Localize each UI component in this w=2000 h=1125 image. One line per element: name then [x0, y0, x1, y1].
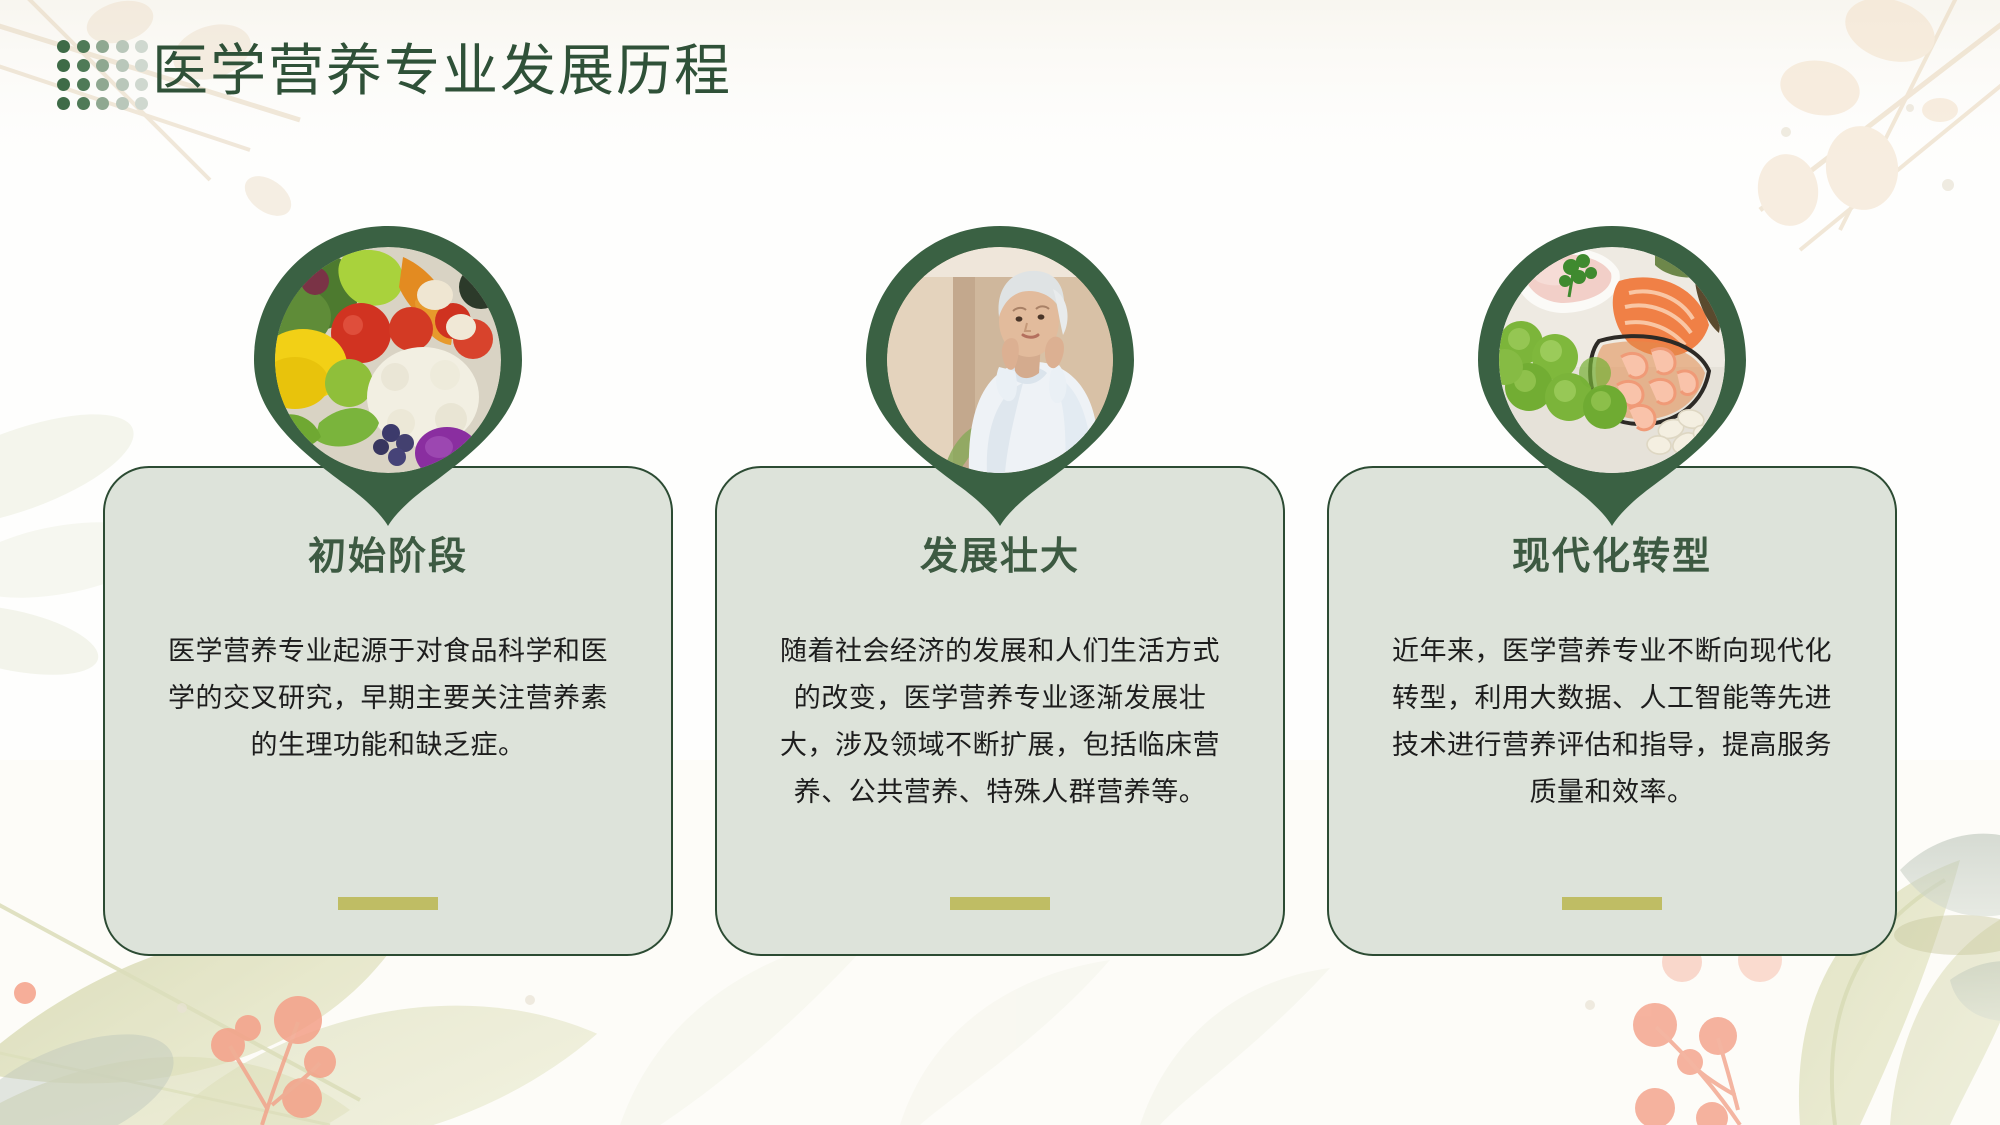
protein-food-photo-art	[1499, 247, 1725, 473]
vegetables-photo-art	[275, 247, 501, 473]
card-panel: 初始阶段 医学营养专业起源于对食品科学和医学的交叉研究，早期主要关注营养素的生理…	[103, 466, 673, 956]
map-pin-marker-1[interactable]	[254, 226, 522, 526]
accent-bar	[950, 897, 1050, 910]
timeline-card-3[interactable]: 现代化转型 近年来，医学营养专业不断向现代化转型，利用大数据、人工智能等先进技术…	[1327, 466, 1897, 956]
elderly-woman-photo	[887, 247, 1113, 473]
protein-food-photo	[1499, 247, 1725, 473]
accent-bar	[1562, 897, 1662, 910]
accent-bar	[338, 897, 438, 910]
map-pin-marker-2[interactable]	[866, 226, 1134, 526]
timeline-card-2[interactable]: 发展壮大 随着社会经济的发展和人们生活方式的改变，医学营养专业逐渐发展壮大，涉及…	[715, 466, 1285, 956]
timeline-card-1[interactable]: 初始阶段 医学营养专业起源于对食品科学和医学的交叉研究，早期主要关注营养素的生理…	[103, 466, 673, 956]
card-title: 初始阶段	[105, 534, 671, 580]
card-body-text: 随着社会经济的发展和人们生活方式的改变，医学营养专业逐渐发展壮大，涉及领域不断扩…	[769, 628, 1231, 816]
timeline-cards: 初始阶段 医学营养专业起源于对食品科学和医学的交叉研究，早期主要关注营养素的生理…	[0, 0, 2000, 1125]
elderly-woman-photo-art	[887, 247, 1113, 473]
card-title: 发展壮大	[717, 534, 1283, 580]
vegetables-photo	[275, 247, 501, 473]
map-pin-marker-3[interactable]	[1478, 226, 1746, 526]
card-panel: 现代化转型 近年来，医学营养专业不断向现代化转型，利用大数据、人工智能等先进技术…	[1327, 466, 1897, 956]
card-panel: 发展壮大 随着社会经济的发展和人们生活方式的改变，医学营养专业逐渐发展壮大，涉及…	[715, 466, 1285, 956]
slide-canvas: 医学营养专业发展历程 初始阶段 医学营养专业起源于对食品科学和医学的交叉研究，早…	[0, 0, 2000, 1125]
card-body-text: 医学营养专业起源于对食品科学和医学的交叉研究，早期主要关注营养素的生理功能和缺乏…	[157, 628, 619, 769]
card-body-text: 近年来，医学营养专业不断向现代化转型，利用大数据、人工智能等先进技术进行营养评估…	[1381, 628, 1843, 816]
card-title: 现代化转型	[1329, 534, 1895, 580]
